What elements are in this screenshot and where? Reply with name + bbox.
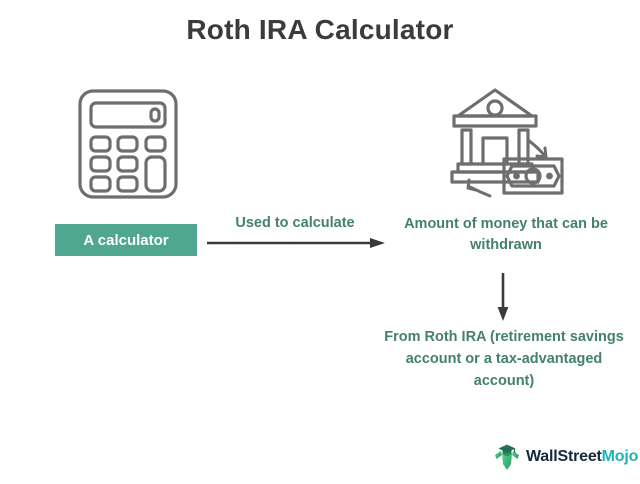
brand-wordmark: WallStreetMojo (526, 448, 638, 466)
arrow-down-icon (489, 272, 517, 322)
calculator-label-badge: A calculator (55, 224, 197, 256)
detail-text: From Roth IRA (retirement savings accoun… (382, 326, 626, 392)
page-title: Roth IRA Calculator (0, 14, 640, 46)
brand-logo[interactable]: WallStreetMojo (492, 440, 628, 474)
brand-word-primary: WallStreet (526, 448, 602, 465)
calculator-label-text: A calculator (83, 232, 168, 249)
brand-word-accent: Mojo (602, 448, 639, 465)
result-text: Amount of money that can be withdrawn (390, 214, 622, 256)
connector-caption: Used to calculate (205, 215, 385, 231)
arrow-right-icon (205, 234, 387, 252)
calculator-icon (76, 88, 180, 200)
bank-money-icon (450, 86, 566, 202)
wallstreetmojo-mascot-icon (492, 442, 522, 472)
diagram-canvas: Roth IRA Calculator (0, 0, 640, 484)
